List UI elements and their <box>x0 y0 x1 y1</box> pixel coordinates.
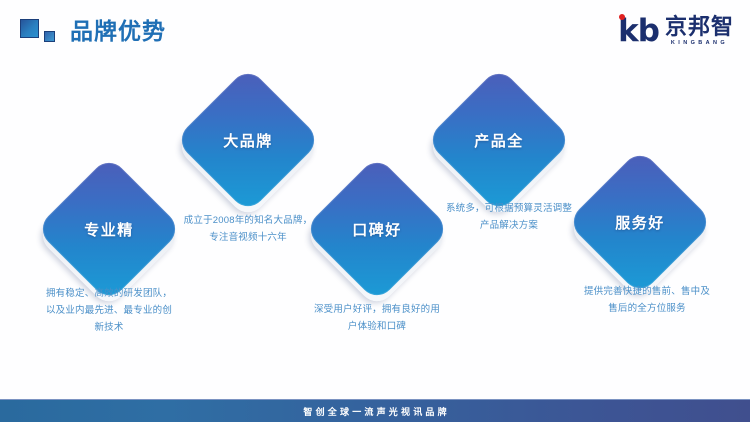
brand-logo: kb 京邦智 KINGBANG <box>618 14 734 48</box>
diamond-shape-5[interactable]: 服务好 <box>588 170 692 274</box>
diamond-shape-4[interactable]: 产品全 <box>447 88 551 192</box>
advantage-caption-3: 深受用户好评，拥有良好的用户体验和口碑 <box>311 301 443 335</box>
diamond-shape-1[interactable]: 专业精 <box>57 177 161 281</box>
diamond-shape-3[interactable]: 口碑好 <box>325 177 429 281</box>
logo-name-block: 京邦智 KINGBANG <box>665 16 734 47</box>
advantage-caption-2: 成立于2008年的知名大品牌，专注音视频十六年 <box>182 212 314 246</box>
header-decor-squares <box>20 19 66 49</box>
logo-mark-text: kb <box>618 16 659 47</box>
slide-canvas: 品牌优势 kb 京邦智 KINGBANG 专业精 拥有稳定、高效的研发团队，以及… <box>0 0 750 422</box>
footer-slogan: 智创全球一流声光视讯品牌 <box>300 405 450 418</box>
advantage-caption-5: 提供完善快捷的售前、售中及售后的全方位服务 <box>581 283 713 317</box>
diamond-shape-2[interactable]: 大品牌 <box>196 88 300 192</box>
advantage-caption-4: 系统多，可根据预算灵活调整产品解决方案 <box>443 200 575 234</box>
diamond-label-3: 口碑好 <box>325 177 429 281</box>
diamond-label-1: 专业精 <box>57 177 161 281</box>
page-title: 品牌优势 <box>70 15 166 47</box>
square-small-icon <box>44 31 55 42</box>
slide-footer: 智创全球一流声光视讯品牌 <box>0 399 750 422</box>
advantage-caption-1: 拥有稳定、高效的研发团队，以及业内最先进、最专业的创新技术 <box>43 285 175 336</box>
square-large-icon <box>20 19 39 38</box>
slide-header: 品牌优势 kb 京邦智 KINGBANG <box>0 0 750 62</box>
diamond-label-2: 大品牌 <box>196 88 300 192</box>
logo-name-cn: 京邦智 <box>665 16 734 38</box>
diamond-label-4: 产品全 <box>447 88 551 192</box>
logo-red-dot-icon <box>619 14 625 20</box>
diamond-label-5: 服务好 <box>588 170 692 274</box>
logo-name-en: KINGBANG <box>665 39 734 47</box>
